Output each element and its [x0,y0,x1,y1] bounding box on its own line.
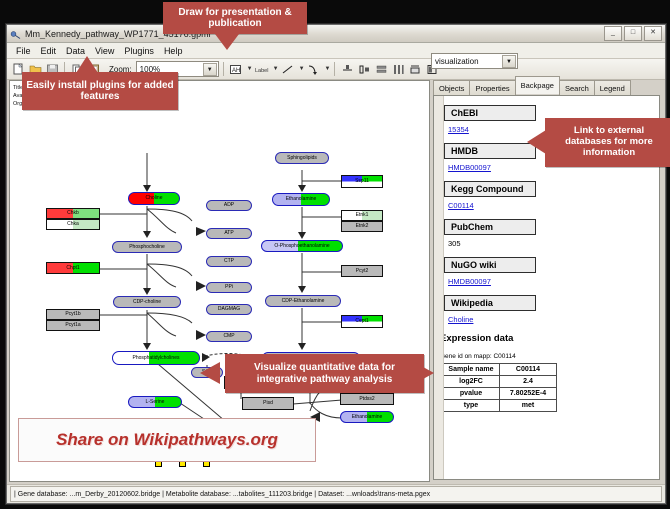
visualization-value: visualization [435,57,479,66]
tab-objects[interactable]: Objects [433,80,470,96]
node-chpt1[interactable]: Chpt1 [46,262,100,274]
gene-id-line: Gene id on mapp: C00114 [440,353,659,360]
hmdb-header: HMDB [444,143,536,159]
image-icon[interactable]: AH [228,61,244,77]
section-nugowiki: NuGO wiki HMDB00097 [444,255,659,286]
callout-draw: Draw for presentation & publication [163,2,307,34]
distribute-icon[interactable] [390,61,406,77]
node-phosphocholine[interactable]: Phosphocholine [112,241,182,253]
menu-item-help[interactable]: Help [159,44,188,58]
table-cell-label: Sample name [443,364,500,376]
node-o-phosphoethanolamine[interactable]: O-Phosphoethanolamine [261,240,343,252]
callout-link: Link to external databases for more info… [545,118,670,167]
table-cell-value: 2.4 [500,376,557,388]
chevron-down-icon[interactable]: ▼ [502,55,516,68]
section-wikipedia: Wikipedia Choline [444,293,659,324]
callout-share: Share on Wikipathways.org [18,418,316,462]
stack-icon[interactable] [373,61,389,77]
kegg-header: Kegg Compound [444,181,536,197]
nugowiki-header: NuGO wiki [444,257,536,273]
expression-data-header: Expression data [440,333,659,344]
status-text: | Gene database: ...m_Derby_20120602.bri… [10,486,662,502]
close-button[interactable]: ✕ [644,26,662,41]
maximize-button[interactable]: □ [624,26,642,41]
node-phosphatidylcholines[interactable]: Phosphatidylcholines [112,351,200,365]
table-cell-value: C00114 [500,364,557,376]
expression-table: Sample name C00114 log2FC 2.4 pvalue 7.8… [442,363,557,412]
menu-item-plugins[interactable]: Plugins [119,44,159,58]
share-text: Share on Wikipathways.org [56,430,278,450]
node-cdp-choline[interactable]: CDP-choline [113,296,181,308]
backpage-scrollbar[interactable] [434,96,444,479]
nugowiki-link[interactable]: HMDB00097 [448,277,659,286]
node-etnk1[interactable]: Etnk1 [341,210,383,221]
node-adp[interactable]: ADP [206,200,252,211]
table-row: pvalue 7.80252E-4 [443,388,557,400]
tab-legend[interactable]: Legend [594,80,631,96]
minimize-button[interactable]: _ [604,26,622,41]
table-row: Sample name C00114 [443,364,557,376]
window-buttons: _ □ ✕ [604,26,662,41]
node-ptdss2[interactable]: Ptdss2 [340,393,394,405]
node-pcyt1a[interactable]: Pcyt1a [46,320,100,331]
status-bar: | Gene database: ...m_Derby_20120602.bri… [7,484,665,503]
menu-item-file[interactable]: File [11,44,36,58]
tab-properties[interactable]: Properties [469,80,515,96]
chebi-header: ChEBI [444,105,536,121]
table-cell-label: log2FC [443,376,500,388]
visualization-combo[interactable]: visualization ▼ [431,53,518,69]
callout-plugins-arrow-icon [76,56,98,73]
arrow-icon[interactable] [306,61,322,77]
chevron-down-icon[interactable]: ▼ [273,66,279,72]
toolbar-separator [223,62,224,76]
label-icon[interactable]: Label [254,61,270,77]
table-cell-value: 7.80252E-4 [500,388,557,400]
node-pcyt2[interactable]: Pcyt2 [341,265,383,277]
table-row: log2FC 2.4 [443,376,557,388]
svg-text:AH: AH [232,68,240,74]
callout-visualize-arrow-icon [200,362,220,384]
tab-backpage[interactable]: Backpage [515,76,560,94]
node-sphingolipids[interactable]: Sphingolipids [275,152,329,164]
table-row: type met [443,400,557,412]
order-icon[interactable] [407,61,423,77]
app-icon [10,28,21,39]
kegg-link[interactable]: C00114 [448,201,659,210]
line-icon[interactable] [280,61,296,77]
node-atp[interactable]: ATP [206,228,252,239]
section-pubchem: PubChem 305 [444,217,659,248]
align-icon[interactable] [339,61,355,77]
chevron-down-icon[interactable]: ▼ [299,66,305,72]
node-choline-top[interactable]: Choline [128,192,180,205]
node-cmp[interactable]: CMP [206,331,252,342]
node-dagmag[interactable]: DAGMAG [206,304,252,315]
node-ethanolamine-top[interactable]: Ethanolamine [272,193,330,206]
table-cell-label: pvalue [443,388,500,400]
node-pisd[interactable]: Pisd [242,397,294,410]
callout-visualize: Visualize quantitative data for integrat… [225,354,424,393]
node-etnk2[interactable]: Etnk2 [341,221,383,232]
callout-link-arrow-icon [527,130,546,154]
chevron-down-icon[interactable]: ▼ [203,63,217,76]
node-ppi[interactable]: PPi [206,282,252,293]
title-bar: Mm_Kennedy_pathway_WP1771_45176.gpml _ □… [7,25,665,43]
wikipedia-header: Wikipedia [444,295,536,311]
tab-search[interactable]: Search [559,80,595,96]
table-cell-value: met [500,400,557,412]
callout-visualize-arrow-right-icon [414,362,434,384]
node-cept1[interactable]: Cept1 [341,315,383,328]
wikipedia-link[interactable]: Choline [448,315,659,324]
chevron-down-icon[interactable]: ▼ [247,66,253,72]
node-chka[interactable]: Chka [46,219,100,230]
node-ethanolamine-right[interactable]: Ethanolamine [340,411,394,423]
menu-item-edit[interactable]: Edit [36,44,62,58]
pubchem-header: PubChem [444,219,536,235]
node-ctp[interactable]: CTP [206,256,252,267]
node-l-serine-left[interactable]: L-Serine [128,396,182,408]
group-icon[interactable] [356,61,372,77]
table-cell-label: type [443,400,500,412]
node-pcyt1b[interactable]: Pcyt1b [46,309,100,320]
callout-draw-arrow-icon [215,34,239,50]
svg-text:Label: Label [255,68,268,74]
chevron-down-icon[interactable]: ▼ [325,66,331,72]
toolbar-separator [334,62,335,76]
callout-plugins: Easily install plugins for added feature… [22,72,178,110]
side-tabs: Objects Properties Backpage Search Legen… [433,80,630,96]
menu-bar: File Edit Data View Plugins Help [7,43,665,59]
section-kegg: Kegg Compound C00114 [444,179,659,210]
node-chkb[interactable]: Chkb [46,208,100,219]
node-cdp-ethanolamine[interactable]: CDP-Ethanolamine [265,295,341,307]
pubchem-value: 305 [448,239,659,248]
node-ssp11[interactable]: Ssp11 [341,175,383,188]
